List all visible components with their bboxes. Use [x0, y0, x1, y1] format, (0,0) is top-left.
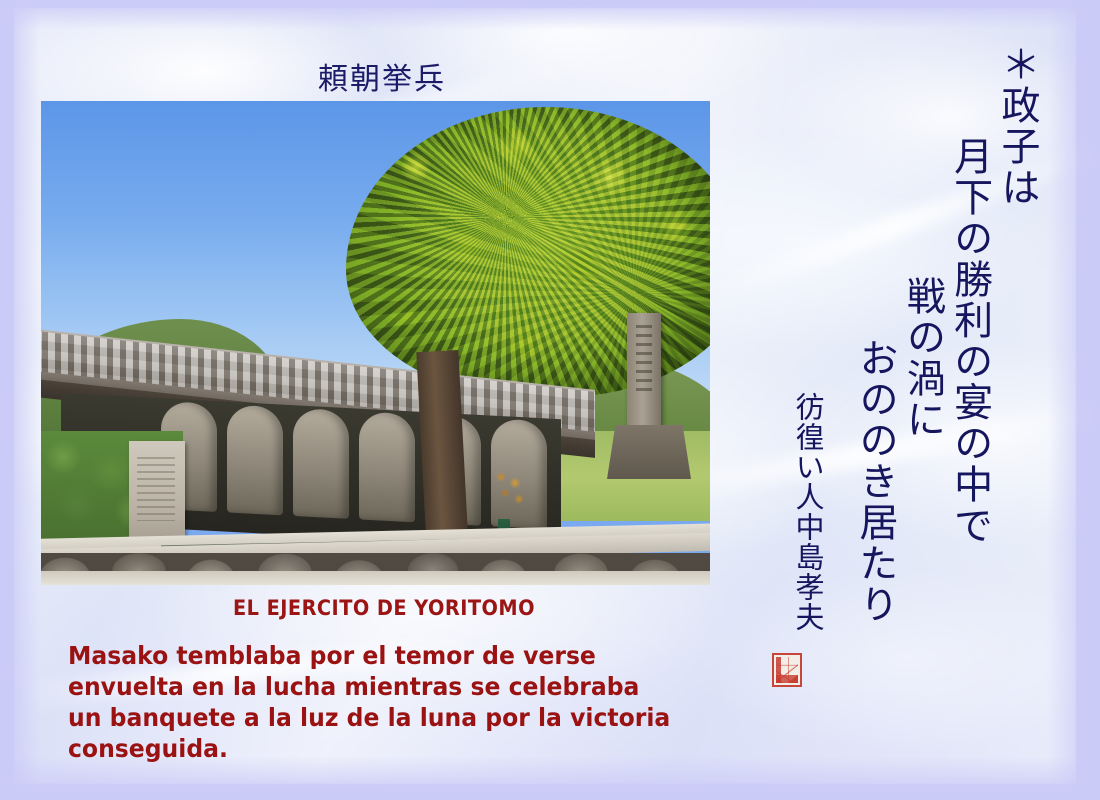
photograph: [41, 101, 710, 585]
poem-signature-block: 彷徨い人中島孝夫: [793, 44, 827, 632]
photo-foreground-ground: [41, 571, 710, 585]
hanko-seal-icon: [772, 653, 802, 687]
photo-caption: EL EJERCITO DE YORITOMO: [233, 596, 535, 620]
vertical-poem: おののき居たり 戦の渦に 月下の勝利の宴の中で ＊政子は: [855, 44, 1038, 625]
poem-column-1: ＊政子は: [997, 44, 1038, 208]
page-title: 頼朝挙兵: [318, 54, 446, 98]
body-paragraph: Masako temblaba por el temor de verse en…: [68, 640, 726, 764]
poem-column-3: 戦の渦に: [902, 276, 943, 440]
poem-column-2: 月下の勝利の宴の中で: [949, 136, 990, 546]
poem-column-4: おののき居たり: [855, 338, 896, 625]
slide-canvas: 頼朝挙兵 EL EJERCITO DE YOR: [0, 0, 1100, 800]
stone-marker: [359, 411, 415, 522]
stone-marker: [227, 404, 283, 515]
photo-stone-monument: [627, 313, 661, 429]
stone-marker: [293, 408, 349, 519]
poem-signature: 彷徨い人中島孝夫: [793, 392, 823, 632]
photo-monument-pedestal: [607, 425, 691, 479]
